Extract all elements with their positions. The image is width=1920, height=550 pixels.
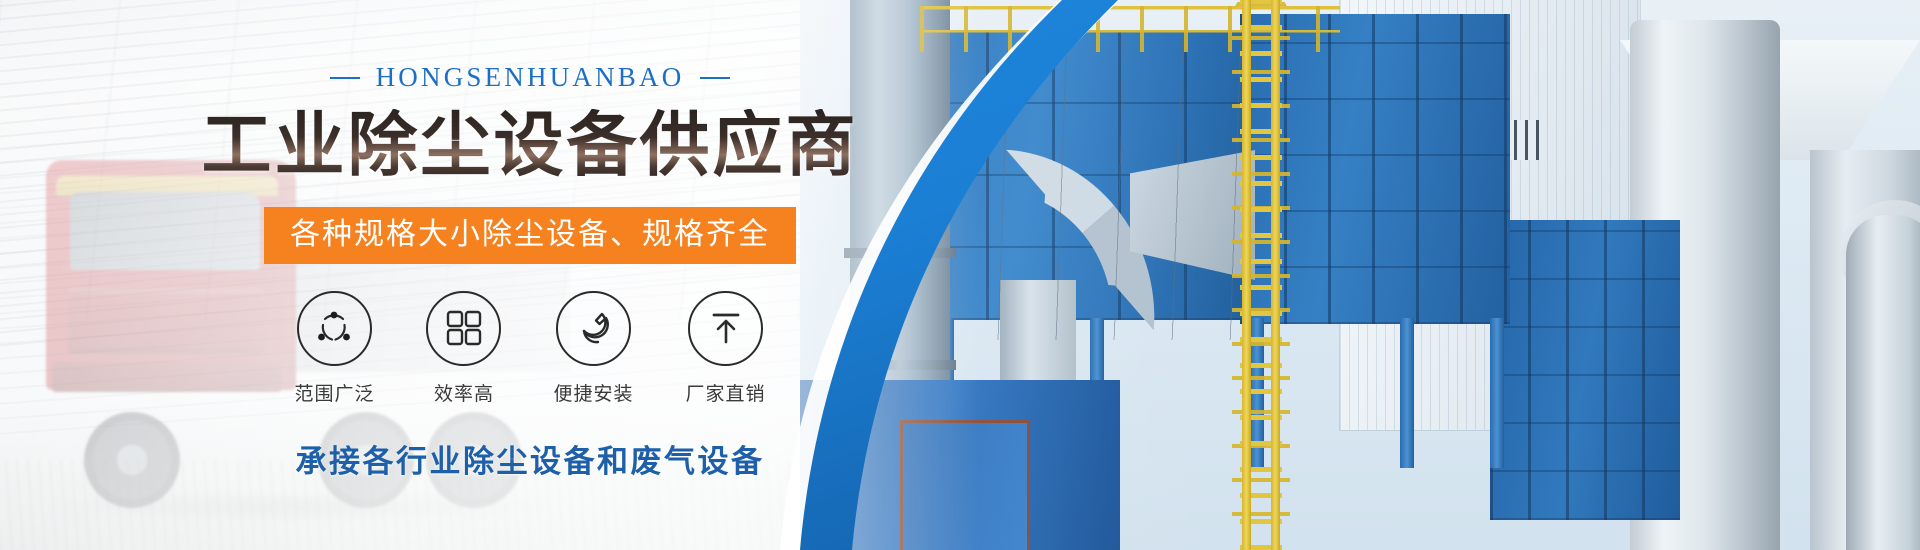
- feature-label: 效率高: [434, 379, 494, 406]
- hero-banner: HONGSENHUANBAO 工业除尘设备供应商 各种规格大小除尘设备、规格齐全: [0, 0, 1920, 550]
- feature-item-installation[interactable]: 便捷安装: [553, 291, 633, 406]
- up-arrow-icon: [706, 308, 746, 348]
- feature-label: 厂家直销: [686, 379, 766, 406]
- eyebrow-dash-right: [700, 77, 730, 79]
- page-title: 工业除尘设备供应商: [202, 109, 859, 183]
- feature-icon-circle: [297, 291, 372, 366]
- banner-content: HONGSENHUANBAO 工业除尘设备供应商 各种规格大小除尘设备、规格齐全: [0, 0, 1060, 550]
- feature-item-factory-direct[interactable]: 厂家直销: [686, 291, 766, 406]
- network-nodes-icon: [313, 307, 355, 349]
- banner-tagline: 承接各行业除尘设备和废气设备: [296, 436, 765, 481]
- feature-item-efficiency[interactable]: 效率高: [426, 291, 501, 406]
- feature-icon-circle: [688, 291, 763, 366]
- feature-item-range[interactable]: 范围广泛: [294, 291, 374, 406]
- four-squares-grid-icon: [444, 308, 484, 348]
- eyebrow-dash-left: [330, 77, 360, 79]
- brand-eyebrow: HONGSENHUANBAO: [330, 62, 731, 93]
- feature-list: 范围广泛 效率高: [294, 291, 765, 406]
- subtitle-orange-bar: 各种规格大小除尘设备、规格齐全: [264, 207, 796, 264]
- feature-icon-circle: [556, 291, 631, 366]
- wrench-icon: [572, 307, 614, 349]
- feature-label: 范围广泛: [294, 379, 374, 406]
- feature-icon-circle: [426, 291, 501, 366]
- eyebrow-text: HONGSENHUANBAO: [376, 62, 685, 93]
- feature-label: 便捷安装: [553, 379, 633, 406]
